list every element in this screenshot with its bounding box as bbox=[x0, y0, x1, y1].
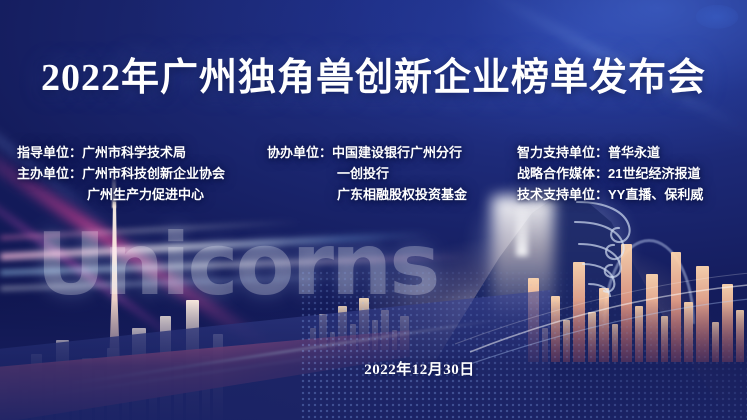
credits-column-co-organizers: 协办单位： 中国建设银行广州分行 一创投行 广东相融股权投资基金 bbox=[267, 142, 517, 205]
credit-label: 协办单位： bbox=[267, 142, 332, 163]
credit-row: 一创投行 bbox=[267, 163, 517, 184]
event-date-text: 2022年12月30日 bbox=[364, 358, 475, 379]
credits-column-support-partners: 智力支持单位： 普华永道 战略合作媒体： 21世纪经济报道 技术支持单位： YY… bbox=[517, 142, 743, 205]
credit-row: 广州生产力促进中心 bbox=[17, 184, 265, 205]
cloud-swirl-icon bbox=[573, 196, 693, 306]
event-poster: Unicorns 2022年广州独角兽创新企业榜单发布会 指导单位 bbox=[0, 0, 747, 420]
credit-value: 普华永道 bbox=[608, 142, 660, 163]
credit-value: 广东相融股权投资基金 bbox=[337, 184, 467, 205]
event-date: 2022年12月30日 bbox=[0, 358, 747, 379]
credit-row: 战略合作媒体： 21世纪经济报道 bbox=[517, 163, 743, 184]
credit-value: 广州市科学技术局 bbox=[82, 142, 186, 163]
credit-value: 广州市科技创新企业协会 bbox=[82, 163, 225, 184]
credit-value: 广州生产力促进中心 bbox=[87, 184, 204, 205]
credit-value: 一创投行 bbox=[337, 163, 389, 184]
credit-row: 广东相融股权投资基金 bbox=[267, 184, 517, 205]
credit-label: 主办单位： bbox=[17, 163, 82, 184]
credit-row: 主办单位： 广州市科技创新企业协会 bbox=[17, 163, 265, 184]
credit-label: 战略合作媒体： bbox=[517, 163, 608, 184]
credit-label: 指导单位： bbox=[17, 142, 82, 163]
page-title: 2022年广州独角兽创新企业榜单发布会 bbox=[0, 46, 747, 101]
credit-row: 指导单位： 广州市科学技术局 bbox=[17, 142, 265, 163]
credits-column-guidance-and-host: 指导单位： 广州市科学技术局 主办单位： 广州市科技创新企业协会 广州生产力促进… bbox=[17, 142, 265, 205]
credits-block: 指导单位： 广州市科学技术局 主办单位： 广州市科技创新企业协会 广州生产力促进… bbox=[0, 142, 747, 205]
credit-value: 21世纪经济报道 bbox=[608, 163, 700, 184]
credit-row: 协办单位： 中国建设银行广州分行 bbox=[267, 142, 517, 163]
credit-label: 智力支持单位： bbox=[517, 142, 608, 163]
credit-value: YY直播、保利威 bbox=[608, 184, 703, 205]
credit-label: 技术支持单位： bbox=[517, 184, 608, 205]
credit-row: 智力支持单位： 普华永道 bbox=[517, 142, 743, 163]
credit-value: 中国建设银行广州分行 bbox=[332, 142, 462, 163]
credit-row: 技术支持单位： YY直播、保利威 bbox=[517, 184, 743, 205]
sun-beam-icon bbox=[516, 196, 528, 256]
